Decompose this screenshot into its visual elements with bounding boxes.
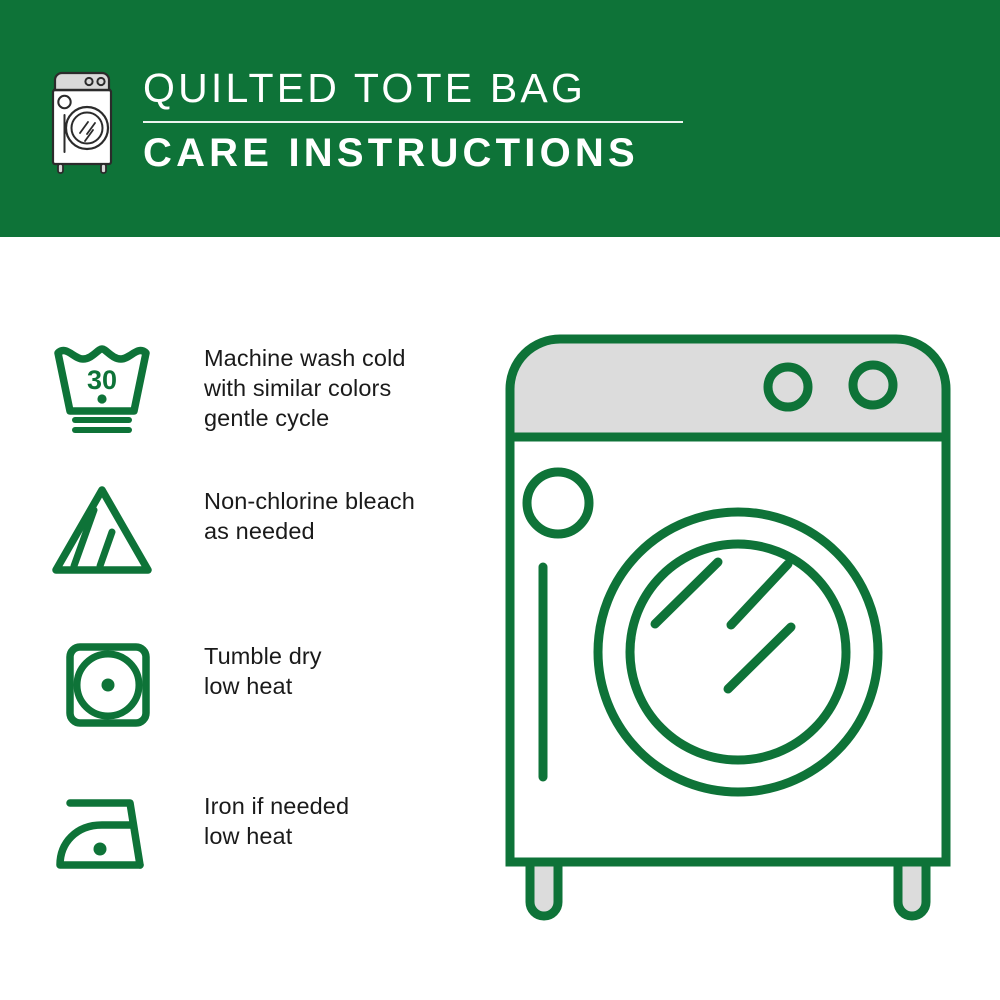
- washing-machine-icon: [44, 66, 120, 176]
- title-divider: [143, 121, 683, 123]
- front-load-washing-machine-illustration: [488, 327, 988, 947]
- care-instructions-infographic: QUILTED TOTE BAG CARE INSTRUCTIONS 30: [0, 0, 1000, 1000]
- care-text-iron: Iron if needed low heat: [204, 785, 349, 851]
- care-row-iron: Iron if needed low heat: [0, 785, 480, 885]
- header-banner: QUILTED TOTE BAG CARE INSTRUCTIONS: [0, 0, 1000, 237]
- leg-right: [898, 862, 926, 916]
- leg-left: [530, 862, 558, 916]
- tumble-dry-low-heat-icon: [48, 635, 156, 735]
- care-text-tumble-dry: Tumble dry low heat: [204, 635, 322, 701]
- page-subtitle: CARE INSTRUCTIONS: [143, 133, 703, 173]
- content-area: 30 Machine wash cold with similar colors…: [0, 237, 1000, 1000]
- care-row-tumble-dry: Tumble dry low heat: [0, 635, 480, 735]
- wash-tub-30-gentle-icon: 30: [48, 337, 156, 437]
- page-title: QUILTED TOTE BAG: [143, 68, 703, 109]
- care-text-bleach: Non-chlorine bleach as needed: [204, 480, 415, 546]
- triangle-non-chlorine-bleach-icon: [48, 480, 156, 580]
- header-title-group: QUILTED TOTE BAG CARE INSTRUCTIONS: [143, 68, 703, 173]
- iron-low-heat-icon: [48, 785, 156, 885]
- care-row-bleach: Non-chlorine bleach as needed: [0, 480, 480, 580]
- care-text-machine-wash: Machine wash cold with similar colors ge…: [204, 337, 406, 433]
- care-row-machine-wash: 30 Machine wash cold with similar colors…: [0, 337, 480, 437]
- svg-text:30: 30: [87, 365, 117, 395]
- care-symbol-list: 30 Machine wash cold with similar colors…: [0, 237, 480, 1000]
